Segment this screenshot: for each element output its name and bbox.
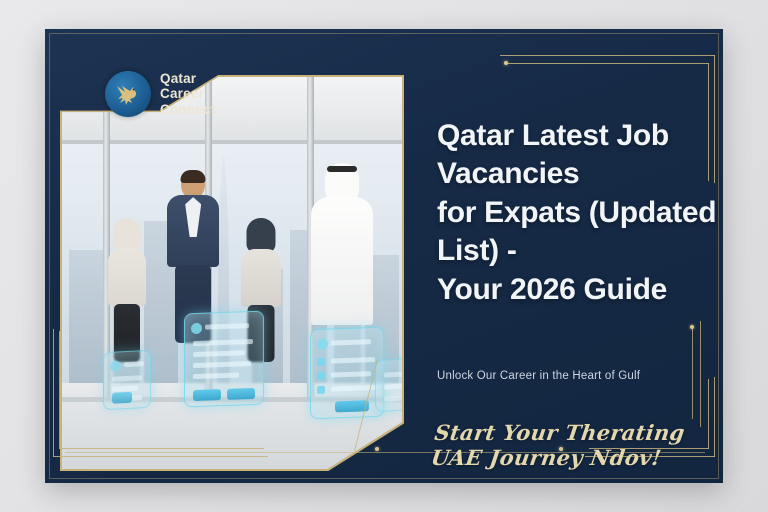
logo-line-2: Career	[160, 86, 215, 101]
headline-line: List) -	[437, 232, 723, 270]
diagonal-accent	[700, 321, 701, 427]
promo-banner: Qatar Career Connect Qatar Latest Job Va…	[45, 29, 723, 483]
falcon-icon	[105, 71, 151, 117]
page-title: Qatar Latest Job Vacancies for Expats (U…	[437, 117, 723, 309]
corner-dot	[375, 447, 379, 451]
hologram-panel-1	[184, 311, 264, 408]
headline-line: Qatar Latest Job	[437, 117, 723, 155]
corner-line	[504, 63, 709, 64]
hologram-panel-4	[375, 358, 402, 412]
headline-line: Your 2026 Guide	[437, 271, 723, 309]
corner-line	[500, 55, 715, 56]
corner-dot	[690, 325, 694, 329]
corner-line	[59, 331, 60, 449]
headline-line: for Expats (Updated	[437, 194, 723, 232]
brand-logo: Qatar Career Connect	[105, 71, 215, 117]
tagline: Start Your Therating UAE Journey Ndov!	[429, 420, 723, 470]
person-woman-light-hijab	[99, 218, 155, 461]
hero-photo	[62, 77, 402, 469]
hologram-panel-3	[103, 350, 151, 411]
headline-block: Qatar Latest Job Vacancies for Expats (U…	[437, 117, 723, 309]
logo-line-1: Qatar	[160, 71, 215, 86]
diagonal-accent	[692, 329, 693, 419]
screenshot-root: Qatar Career Connect Qatar Latest Job Va…	[0, 0, 768, 512]
corner-line	[53, 456, 268, 457]
corner-line	[59, 448, 264, 449]
headline-line: Vacancies	[437, 155, 723, 193]
logo-line-3: Connect	[160, 102, 215, 117]
ceiling-edge	[62, 140, 402, 144]
corner-line	[53, 329, 54, 457]
brand-logo-text: Qatar Career Connect	[160, 71, 215, 116]
subtitle: Unlock Our Career in the Heart of Gulf	[437, 370, 640, 382]
corner-dot	[504, 61, 508, 65]
